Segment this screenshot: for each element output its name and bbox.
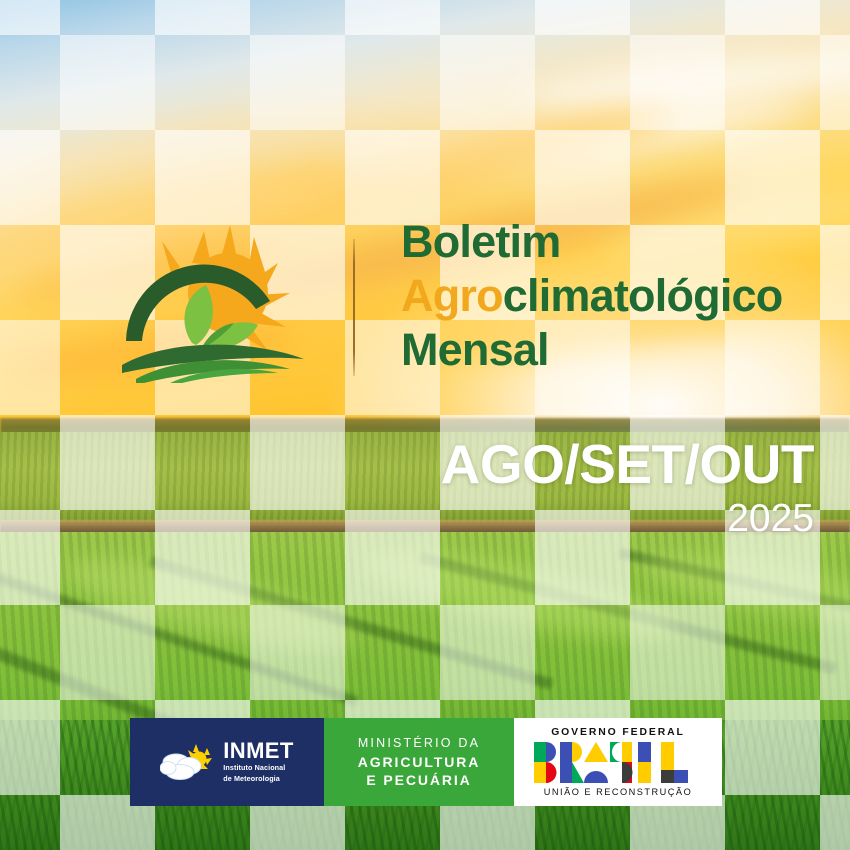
brasil-wordmark-icon [534,742,702,784]
inmet-subtitle-line2: de Meteorologia [223,775,293,784]
inmet-panel: INMET Instituto Nacional de Meteorologia [130,718,324,806]
issue-date-block: AGO/SET/OUT 2025 [394,434,814,542]
title-line-3: Mensal [401,323,841,377]
inmet-subtitle-line1: Instituto Nacional [223,764,293,773]
ministry-line-1: MINISTÉRIO DA [358,735,481,751]
lockup-divider [353,239,355,376]
header-lockup: Boletim Agroclimatológico Mensal [118,215,838,390]
title-text-climatologico: climatológico [503,270,783,321]
title-text-mensal: Mensal [401,324,549,375]
poster-cover: Boletim Agroclimatológico Mensal AGO/SET… [0,0,850,850]
boletim-logo-icon [118,223,323,383]
title-line-2: Agroclimatológico [401,269,841,323]
title-line-1: Boletim [401,215,841,269]
ministry-panel: MINISTÉRIO DA AGRICULTURA E PECUÁRIA [324,718,514,806]
ministry-line-2: AGRICULTURA [358,754,481,772]
government-panel: GOVERNO FEDERAL [514,718,722,806]
cloud-streak [330,87,811,193]
inmet-name: INMET [223,740,293,762]
cloud-streak [519,41,850,122]
issue-period: AGO/SET/OUT [394,434,814,494]
title-accent-agro: Agro [401,270,503,321]
page-title: Boletim Agroclimatológico Mensal [401,215,841,377]
title-text-boletim: Boletim [401,216,560,267]
uniao-reconstrucao-label: UNIÃO E RECONSTRUÇÃO [534,787,702,797]
ministry-line-3: E PECUÁRIA [358,772,481,790]
cloud-sun-icon [160,742,216,782]
governo-federal-label: GOVERNO FEDERAL [534,727,702,738]
footer-logo-bar: INMET Instituto Nacional de Meteorologia… [130,718,722,806]
issue-year: 2025 [394,496,814,542]
